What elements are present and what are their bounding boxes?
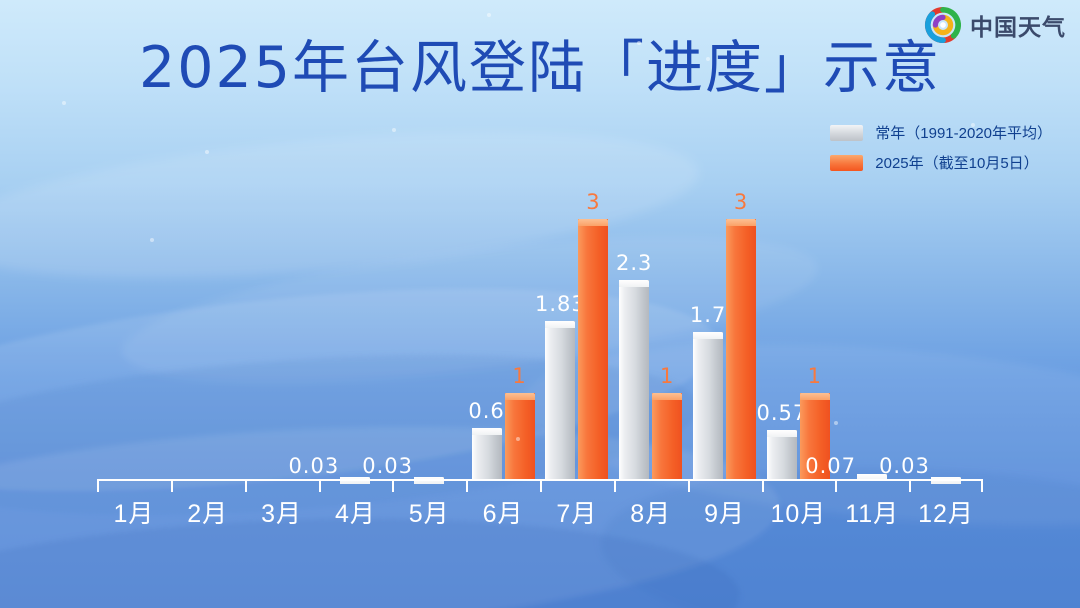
x-axis-label-8: 8月 [614,494,688,530]
page-title: 2025年台风登陆「进度」示意 [0,36,1080,102]
bar-gray: 2.3 [619,280,649,480]
bar-gray: 0.6 [472,428,502,480]
bar-orange: 1 [652,393,682,480]
bar-orange: 1 [505,393,535,480]
bar-cap [505,393,535,400]
x-axis-tick [835,479,837,492]
x-axis-tick [392,479,394,492]
bar-value-label: 0.07 [805,454,856,478]
x-axis-label-7: 7月 [540,494,614,530]
bar-value-label: 0.03 [362,454,413,478]
x-axis-label-11: 11月 [835,494,909,530]
bar-value-label: 1 [512,364,526,388]
bar-value-label: 0.03 [288,454,339,478]
sparkle-dot [516,437,520,441]
bar-value-label: 0.03 [879,454,930,478]
x-axis-tick [688,479,690,492]
x-axis-tick [540,479,542,492]
bar-cap [619,280,649,287]
bar-group: 0.571 [761,150,835,480]
bar-orange: 3 [726,219,756,480]
legend-item-normal: 常年（1991-2020年平均） [830,122,1052,143]
bar-group [97,150,171,480]
bar-columns: 0.030.030.611.8332.311.730.5710.070.03 [97,150,983,480]
bar-cap [545,321,575,328]
bar-gray: 1.7 [693,332,723,480]
bar-group: 0.03 [392,150,466,480]
sparkle-dot [205,150,209,154]
bar-gray: 0.57 [767,430,797,480]
infographic-canvas: 中国天气 2025年台风登陆「进度」示意 常年（1991-2020年平均） 20… [0,0,1080,608]
x-axis-label-2: 2月 [171,494,245,530]
x-axis-tick [171,479,173,492]
bar-cap [578,219,608,226]
bar-value-label: 0.6 [468,399,504,423]
x-axis-label-3: 3月 [245,494,319,530]
sparkle-dot [487,13,491,17]
x-axis-tick [762,479,764,492]
bar-value-label: 2.3 [616,251,652,275]
bar-orange: 3 [578,219,608,480]
bar-group [171,150,245,480]
sparkle-dot [392,128,396,132]
x-axis-label-9: 9月 [688,494,762,530]
x-axis-label-5: 5月 [392,494,466,530]
bar-cap [472,428,502,435]
bar-gray: 1.83 [545,321,575,480]
bar-group: 1.833 [540,150,614,480]
bar-group: 0.03 [318,150,392,480]
bar-cap [652,393,682,400]
bar-value-label: 1 [660,364,674,388]
x-axis-tick [614,479,616,492]
bar-group: 2.31 [614,150,688,480]
sparkle-dot [706,57,710,61]
bar-cap [726,219,756,226]
bar-group: 0.03 [909,150,983,480]
legend-swatch-normal [830,125,863,141]
legend-label-normal: 常年（1991-2020年平均） [875,122,1052,143]
x-axis-tick [245,479,247,492]
bar-cap [693,332,723,339]
x-axis-label-12: 12月 [909,494,983,530]
sparkle-dot [971,123,975,127]
bar-group [245,150,319,480]
bar-cap [800,393,830,400]
x-axis-tick [319,479,321,492]
x-axis-line [97,479,983,481]
bar-cap [767,430,797,437]
bar-value-label: 3 [586,190,600,214]
sparkle-dot [150,238,154,242]
x-axis-tick [909,479,911,492]
bar-value-label: 1.7 [690,303,726,327]
sparkle-dot [834,421,838,425]
x-axis-label-10: 10月 [761,494,835,530]
bar-value-label: 1 [808,364,822,388]
bar-group: 0.61 [466,150,540,480]
bar-group: 0.07 [835,150,909,480]
x-axis-tick [981,479,983,492]
bar-value-label: 3 [734,190,748,214]
x-axis-tick [97,479,99,492]
sparkle-dot [637,41,641,45]
x-axis-tick [466,479,468,492]
sparkle-dot [62,101,66,105]
x-axis-labels: 1月2月3月4月5月6月7月8月9月10月11月12月 [97,494,983,530]
x-axis-label-1: 1月 [97,494,171,530]
x-axis-label-4: 4月 [318,494,392,530]
x-axis-label-6: 6月 [466,494,540,530]
bar-group: 1.73 [688,150,762,480]
bar-chart-plot-area: 0.030.030.611.8332.311.730.5710.070.03 [97,150,983,480]
